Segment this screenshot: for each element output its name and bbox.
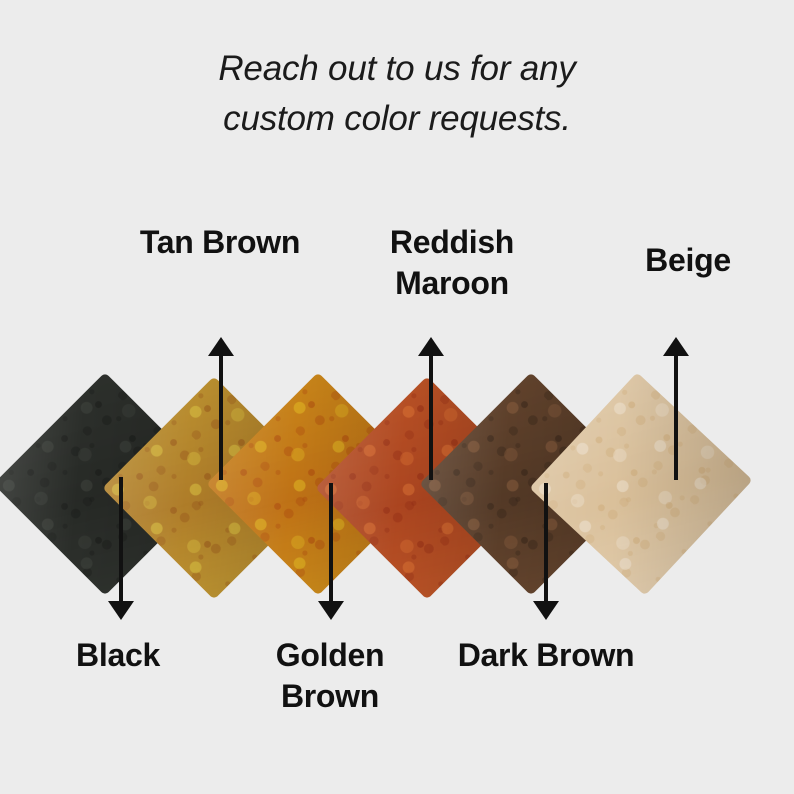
arrow-head <box>533 601 559 620</box>
arrow-head <box>108 601 134 620</box>
color-swatch-graphic: Reach out to us for any custom color req… <box>0 0 794 794</box>
arrow-head <box>318 601 344 620</box>
swatch-label-tan-brown: Tan Brown <box>120 222 320 263</box>
arrow-up-tan-brown <box>208 337 234 480</box>
arrow-shaft <box>544 483 548 606</box>
arrow-shaft <box>219 351 223 480</box>
swatch-label-black: Black <box>18 635 218 676</box>
arrow-head <box>208 337 234 356</box>
swatch-label-golden-brown: Golden Brown <box>230 635 430 717</box>
arrow-shaft <box>329 483 333 606</box>
arrow-shaft <box>674 351 678 480</box>
arrow-shaft <box>429 351 433 480</box>
swatch-label-reddish-maroon: Reddish Maroon <box>352 222 552 304</box>
arrow-down-dark-brown <box>533 483 559 620</box>
swatch-field: BlackTan BrownGolden BrownReddish Maroon… <box>0 0 794 794</box>
arrow-up-beige <box>663 337 689 480</box>
swatch-label-dark-brown: Dark Brown <box>446 635 646 676</box>
arrow-head <box>418 337 444 356</box>
arrow-down-golden-brown <box>318 483 344 620</box>
arrow-down-black <box>108 477 134 620</box>
arrow-head <box>663 337 689 356</box>
swatch-label-beige: Beige <box>588 240 788 281</box>
arrow-shaft <box>119 477 123 606</box>
arrow-up-reddish-maroon <box>418 337 444 480</box>
